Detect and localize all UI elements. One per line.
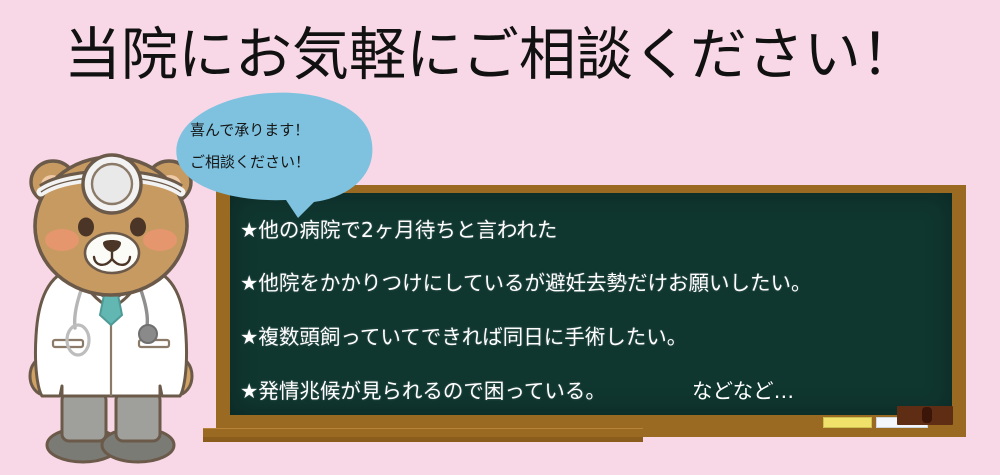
- chalk-tray-shadow: [203, 437, 643, 442]
- blackboard-line-1: ★他の病院で2ヶ月待ちと言われた: [240, 219, 557, 241]
- blackboard-line-3: ★複数頭飼っていてできれば同日に手術したい。: [240, 326, 687, 348]
- blackboard-eraser-knob-icon: [922, 407, 932, 423]
- blackboard-line-2: ★他院をかかりつけにしているが避妊去勢だけお願いしたい。: [240, 272, 811, 294]
- speech-bubble-line-1: 喜んで承ります！: [190, 114, 370, 146]
- speech-bubble: 喜んで承ります！ ご相談ください！: [168, 92, 383, 220]
- blackboard-text-block: ★他の病院で2ヶ月待ちと言われた ★他院をかかりつけにしているが避妊去勢だけお願…: [240, 205, 950, 425]
- blackboard-trailing-note: などなど…: [692, 380, 794, 402]
- poster-canvas: 当院にお気軽にご相談ください！ ★他の病院で2ヶ月待ちと言われた ★他院をかかり…: [0, 0, 1000, 475]
- speech-bubble-line-2: ご相談ください！: [190, 146, 370, 178]
- page-title: 当院にお気軽にご相談ください！: [64, 20, 918, 90]
- yellow-chalk-icon: [823, 417, 872, 428]
- speech-bubble-text: 喜んで承ります！ ご相談ください！: [190, 114, 370, 178]
- blackboard-line-4: ★発情兆候が見られるので困っている。: [240, 380, 606, 402]
